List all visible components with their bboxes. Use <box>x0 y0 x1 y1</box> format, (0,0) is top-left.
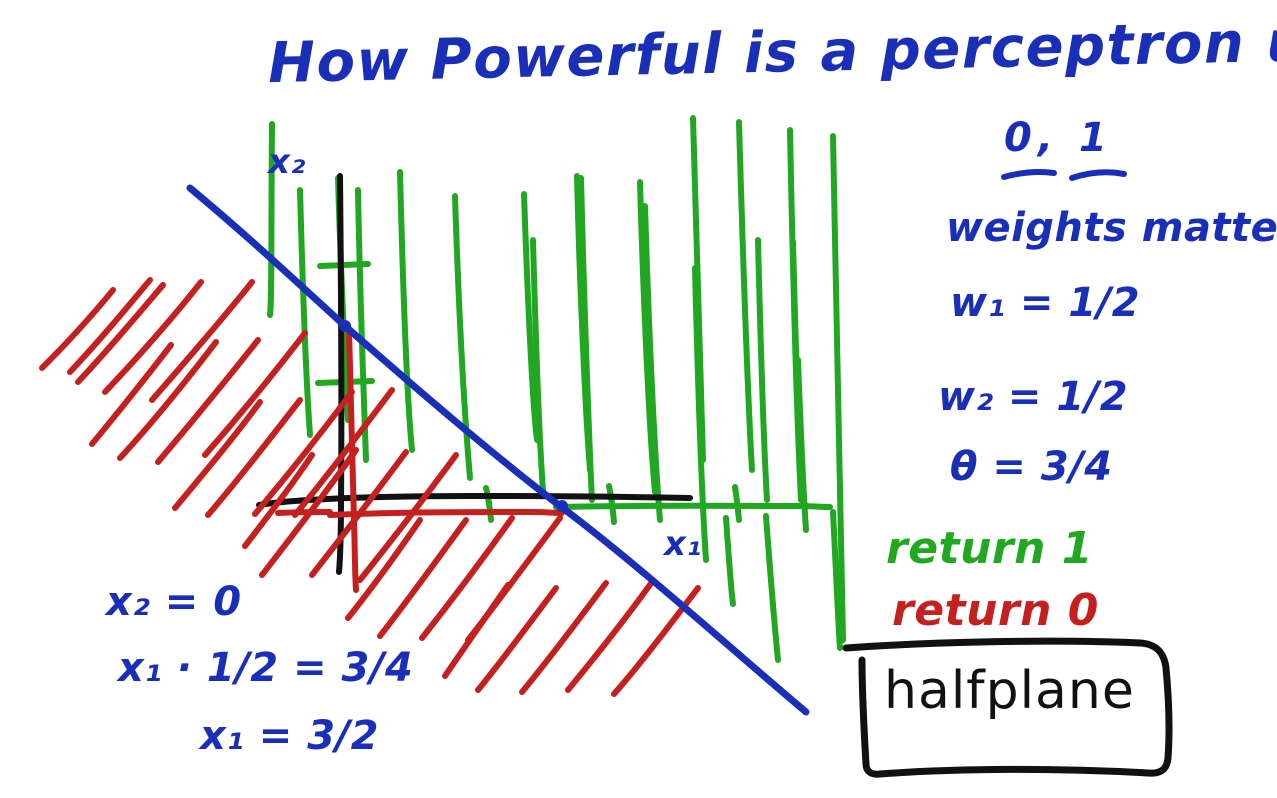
x-intercept-point <box>556 500 568 512</box>
threshold-theta-equation: θ = 3/4 <box>950 447 1113 487</box>
whiteboard-canvas: How Powerful is a perceptron unit? <box>0 0 1277 798</box>
return-one-label: return 1 <box>886 527 1093 571</box>
work-line-x1-result: x₁ = 3/2 <box>200 716 379 756</box>
weight-w2-equation: w₂ = 1/2 <box>938 377 1128 417</box>
halfplane-label: halfplane <box>884 665 1135 717</box>
output-values-label: 0, 1 <box>1004 118 1113 158</box>
weight-w1-equation: w₁ = 1/2 <box>950 283 1140 323</box>
return-zero-label: return 0 <box>892 589 1099 633</box>
work-line-x1-times-half: x₁ · 1/2 = 3/4 <box>118 648 413 688</box>
x-axis-label: x₁ <box>664 527 702 561</box>
red-hatch-region <box>42 280 698 694</box>
weights-matter-heading: weights matter <box>946 208 1277 248</box>
y-intercept-point <box>339 320 351 332</box>
work-line-x2-equals-zero: x₂ = 0 <box>106 582 242 622</box>
decision-boundary-line <box>190 188 806 712</box>
output-values-underline <box>1004 172 1124 178</box>
y-axis-label: x₂ <box>268 145 306 179</box>
